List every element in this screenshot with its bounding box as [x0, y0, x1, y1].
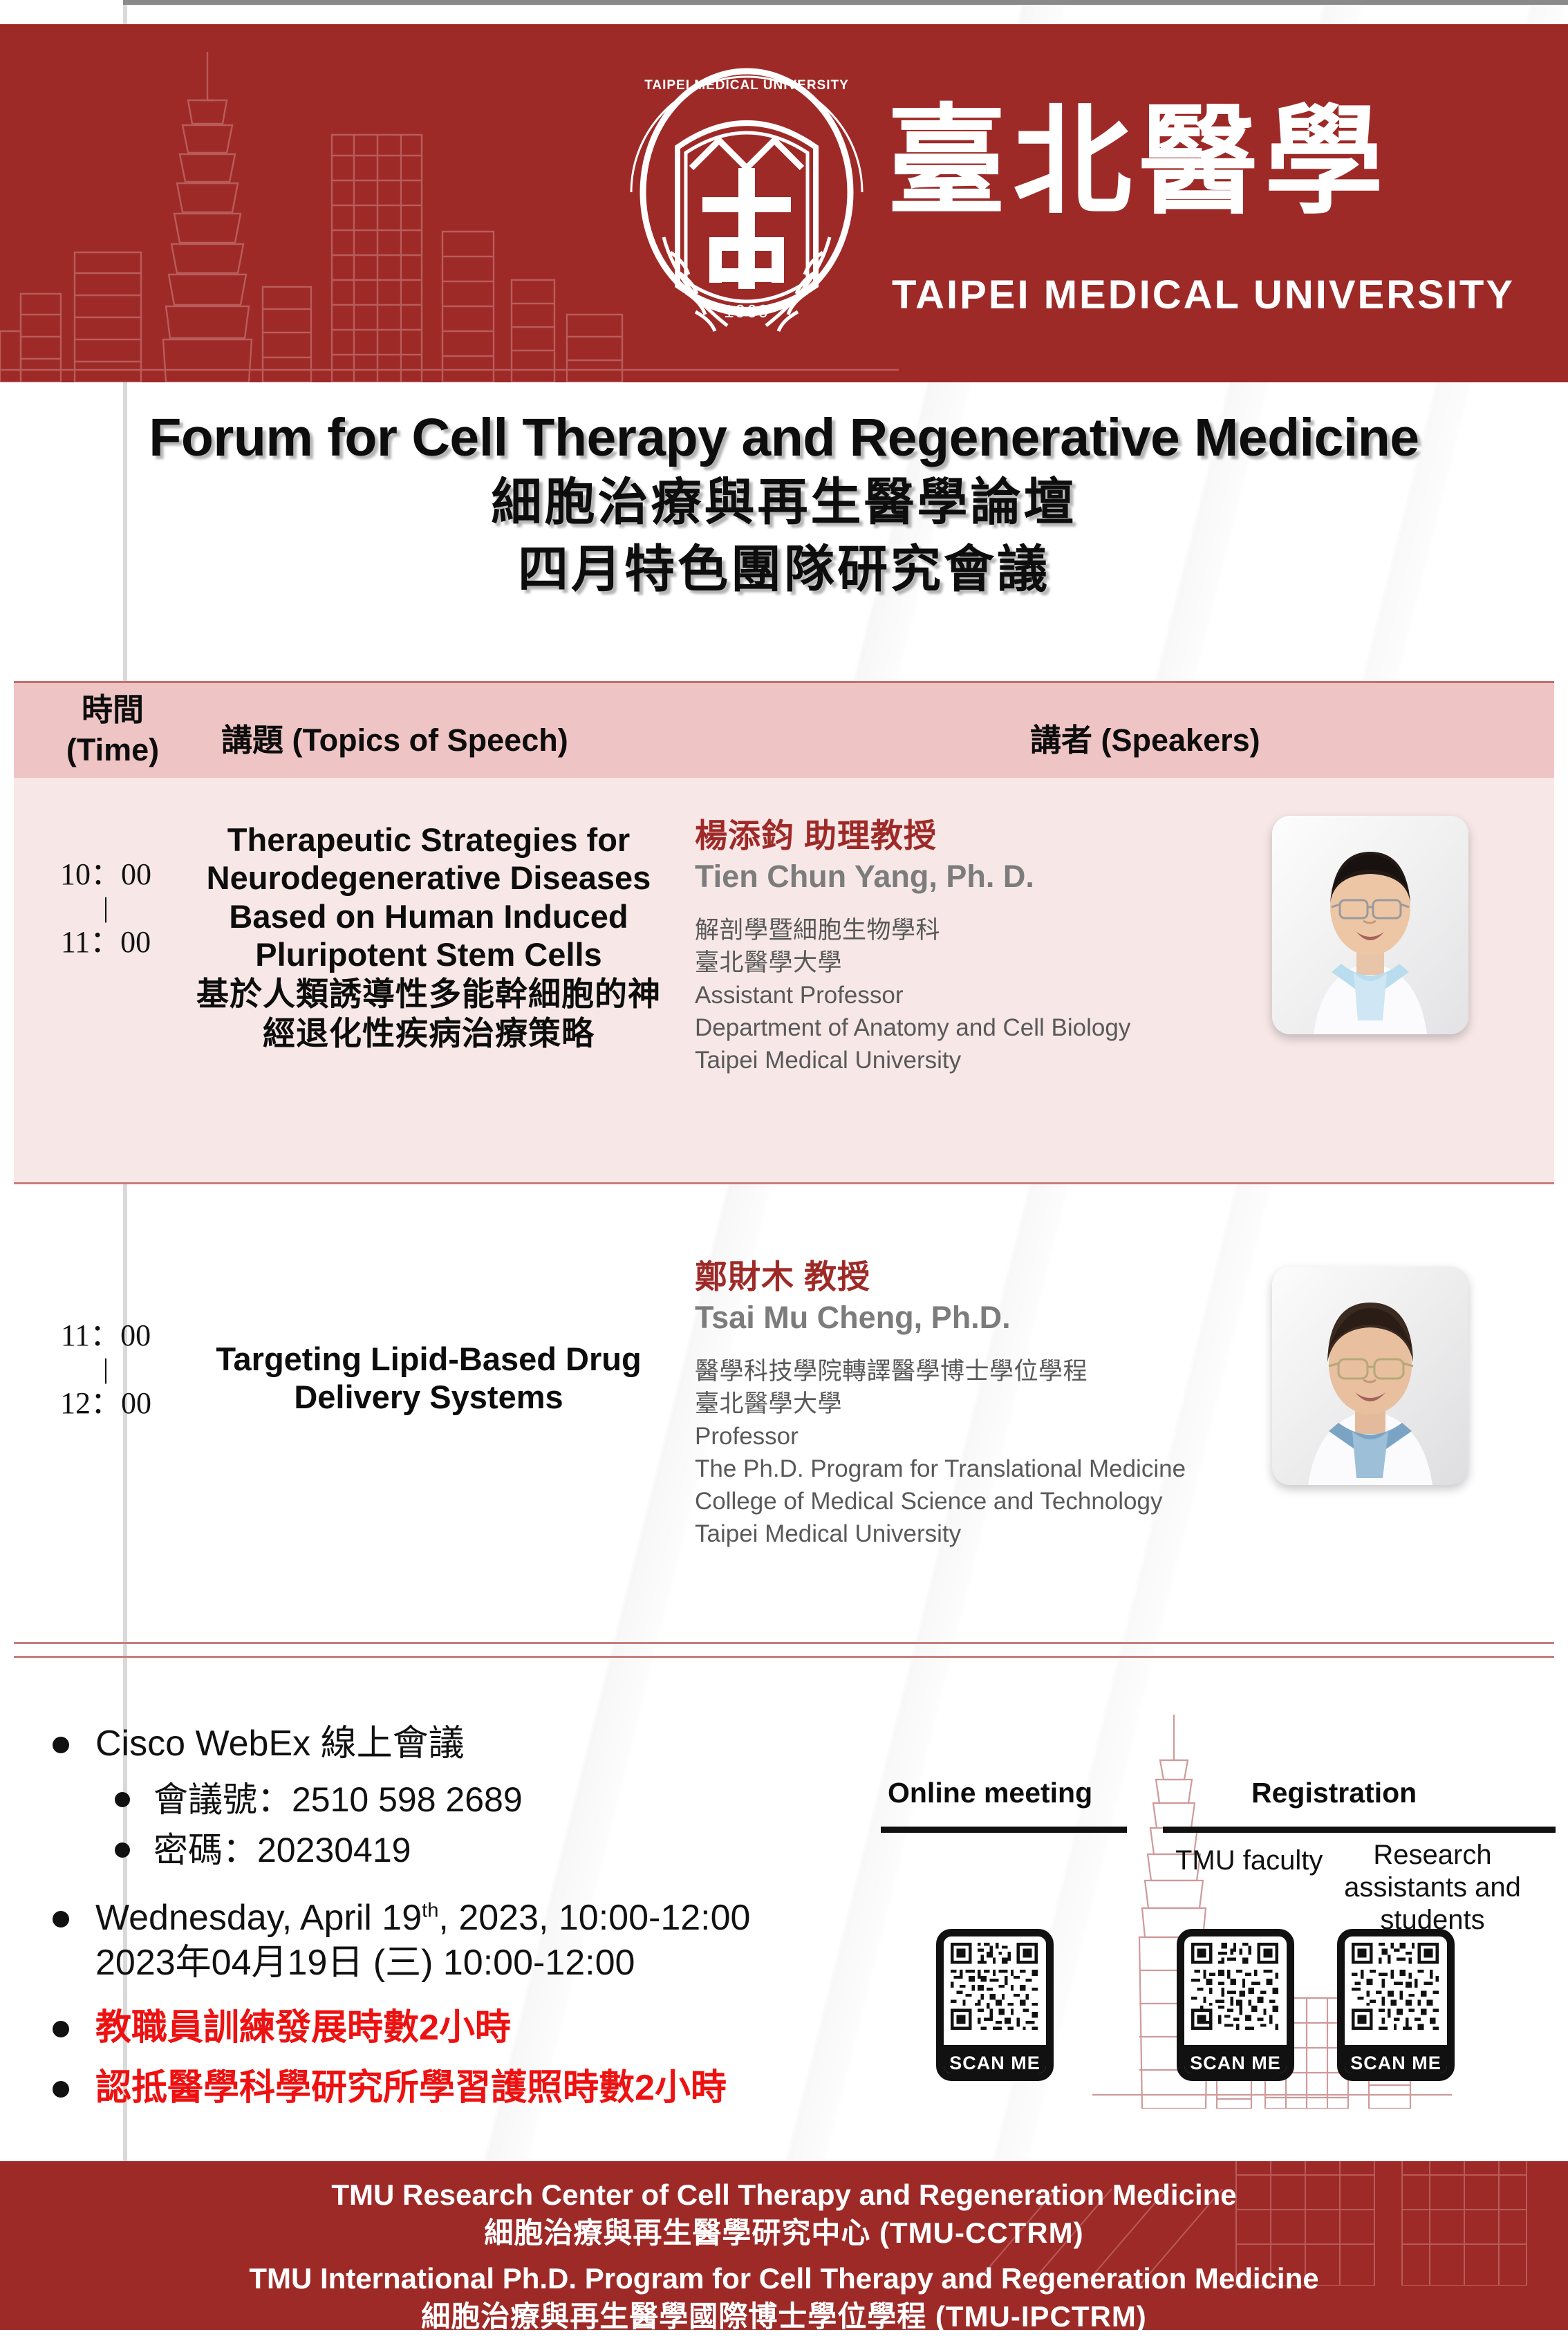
bullet-credit-1: 教職員訓練發展時數2小時 — [40, 2006, 856, 2051]
session-2-time: 11：00 | 12：00 — [26, 1320, 185, 1419]
qr-code-icon — [1191, 1943, 1278, 2030]
session-2-speaker: 鄭財木 教授 Tsai Mu Cheng, Ph.D. 醫學科技學院轉譯醫學博士… — [695, 1257, 1241, 1551]
info-divider — [14, 1656, 1554, 1658]
title-chinese-1: 細胞治療與再生醫學論壇 — [0, 470, 1568, 536]
qr-section: Online meeting Registration TMU faculty … — [864, 1708, 1556, 2109]
column-header-topic: 講題 (Topics of Speech) — [221, 715, 568, 760]
qr-rule-registration — [1163, 1827, 1556, 1833]
session-1-topic-cn: 基於人類誘導性多能幹細胞的神經退化性疾病治療策略 — [187, 974, 671, 1054]
title-block: Forum for Cell Therapy and Regenerative … — [0, 408, 1568, 603]
session-2-aff-cn-2: 臺北醫學大學 — [695, 1388, 1241, 1421]
session-2-topic: Targeting Lipid-Based Drug Delivery Syst… — [187, 1340, 671, 1417]
bullet-password: 密碼：20230419 — [104, 1829, 856, 1872]
date-cn: 2023年04月19日 (三) 10:00-12:00 — [95, 1941, 856, 1986]
schedule-row-1: 10：00 | 11：00 Therapeutic Strategies for… — [14, 778, 1554, 1184]
session-1-aff-en-2: Department of Anatomy and Cell Biology — [695, 1012, 1227, 1045]
scan-me-label: SCAN ME — [936, 2045, 1054, 2081]
session-2-affiliation: 醫學科技學院轉譯醫學博士學位學程 臺北醫學大學 Professor The Ph… — [695, 1356, 1241, 1550]
date-en-pre: Wednesday, April 19 — [95, 1898, 422, 1938]
session-1-aff-cn-2: 臺北醫學大學 — [695, 947, 1227, 980]
bullet-date: Wednesday, April 19th, 2023, 10:00-12:00… — [40, 1896, 856, 1986]
session-2-time-end: 12：00 — [60, 1386, 151, 1420]
date-en-sup: th — [422, 1899, 438, 1921]
qr-rule-online — [881, 1827, 1127, 1833]
date-en-post: , 2023, 10:00-12:00 — [438, 1898, 750, 1938]
session-2-aff-en-2: The Ph.D. Program for Translational Medi… — [695, 1453, 1241, 1486]
session-2-speaker-photo — [1272, 1267, 1468, 1485]
title-english: Forum for Cell Therapy and Regenerative … — [0, 408, 1568, 467]
column-header-time: 時間 (Time) — [40, 690, 185, 769]
footer-banner: TMU Research Center of Cell Therapy and … — [0, 2161, 1568, 2330]
header-banner: 1960 TAIPEI MEDICAL UNIVERSITY 臺北醫學大學 TA… — [0, 24, 1568, 382]
qr-sub-label-tmu-faculty: TMU faculty — [1175, 1845, 1323, 1877]
university-name-cn-calligraphy: 臺北醫學大學 — [881, 80, 1379, 245]
university-name-en: TAIPEI MEDICAL UNIVERSITY — [892, 272, 1515, 318]
session-2-topic-en: Targeting Lipid-Based Drug Delivery Syst… — [187, 1340, 671, 1417]
column-header-speaker: 講者 (Speakers) — [1030, 715, 1260, 760]
crest-ring-label: TAIPEI MEDICAL UNIVERSITY — [644, 78, 849, 93]
session-1-time: 10：00 | 11：00 — [26, 859, 185, 958]
footer-line-4: 細胞治療與再生醫學國際博士學位學程 (TMU-IPCTRM) — [0, 2298, 1568, 2330]
column-header-time-en: (Time) — [40, 730, 185, 770]
session-1-aff-cn-1: 解剖學暨細胞生物學科 — [695, 915, 1227, 947]
bullet-platform: Cisco WebEx 線上會議 — [40, 1721, 856, 1767]
bullet-credit-2: 認抵醫學科學研究所學習護照時數2小時 — [40, 2066, 856, 2111]
title-chinese-2: 四月特色團隊研究會議 — [0, 537, 1568, 603]
session-1-time-end: 11：00 — [61, 925, 151, 959]
session-1-speaker-name-en: Tien Chun Yang, Ph. D. — [695, 857, 1227, 897]
qr-group-label-online: Online meeting — [888, 1777, 1092, 1809]
research-assistants-qr-card[interactable]: SCAN ME — [1337, 1929, 1455, 2081]
tmu-crest-icon: 1960 TAIPEI MEDICAL UNIVERSITY — [622, 64, 871, 341]
session-1-speaker-name-cn: 楊添鈞 助理教授 — [695, 816, 1227, 857]
session-1-aff-en-1: Assistant Professor — [695, 980, 1227, 1012]
session-2-speaker-name-cn: 鄭財木 教授 — [695, 1257, 1241, 1298]
info-bullets: Cisco WebEx 線上會議 會議號：2510 598 2689 密碼：20… — [40, 1721, 856, 2122]
session-1-speaker: 楊添鈞 助理教授 Tien Chun Yang, Ph. D. 解剖學暨細胞生物… — [695, 816, 1227, 1077]
svg-text:1960: 1960 — [724, 301, 769, 321]
column-header-time-cn: 時間 — [40, 690, 185, 730]
session-2-time-separator: | — [26, 1355, 185, 1383]
scan-me-label: SCAN ME — [1337, 2045, 1455, 2081]
footer-line-2: 細胞治療與再生醫學研究中心 (TMU-CCTRM) — [0, 2214, 1568, 2252]
session-2-aff-en-1: Professor — [695, 1421, 1241, 1453]
session-2-time-start: 11：00 — [61, 1318, 151, 1352]
poster-root: 1960 TAIPEI MEDICAL UNIVERSITY 臺北醫學大學 TA… — [0, 0, 1568, 2352]
svg-text:臺北醫學大學: 臺北醫學大學 — [887, 92, 1379, 231]
session-1-topic: Therapeutic Strategies for Neurodegenera… — [187, 821, 671, 1053]
qr-code-icon — [951, 1943, 1038, 2030]
bullet-meeting-number: 會議號：2510 598 2689 — [104, 1778, 856, 1822]
slide-edge-top — [123, 0, 1568, 5]
session-1-speaker-photo — [1272, 816, 1468, 1034]
footer-line-3: TMU International Ph.D. Program for Cell… — [0, 2260, 1568, 2298]
qr-group-label-registration: Registration — [1251, 1777, 1417, 1809]
session-2-aff-en-4: Taipei Medical University — [695, 1518, 1241, 1551]
qr-code-icon — [1352, 1943, 1439, 2030]
session-1-topic-en: Therapeutic Strategies for Neurodegenera… — [187, 821, 671, 974]
session-2-aff-cn-1: 醫學科技學院轉譯醫學博士學位學程 — [695, 1356, 1241, 1388]
session-1-time-separator: | — [26, 894, 185, 922]
footer-line-1: TMU Research Center of Cell Therapy and … — [0, 2176, 1568, 2214]
session-1-aff-en-3: Taipei Medical University — [695, 1045, 1227, 1077]
page-bottom-margin — [0, 2330, 1568, 2352]
schedule-row-2: 11：00 | 12：00 Targeting Lipid-Based Drug… — [14, 1238, 1554, 1644]
session-1-affiliation: 解剖學暨細胞生物學科 臺北醫學大學 Assistant Professor De… — [695, 915, 1227, 1076]
session-1-time-start: 10：00 — [60, 857, 151, 891]
session-2-speaker-name-en: Tsai Mu Cheng, Ph.D. — [695, 1298, 1241, 1338]
session-2-aff-en-3: College of Medical Science and Technolog… — [695, 1486, 1241, 1518]
tmu-faculty-qr-card[interactable]: SCAN ME — [1177, 1929, 1294, 2081]
qr-sub-label-research: Research assistants and students — [1308, 1839, 1557, 1937]
footer-text: TMU Research Center of Cell Therapy and … — [0, 2161, 1568, 2330]
scan-me-label: SCAN ME — [1177, 2045, 1294, 2081]
online-meeting-qr-card[interactable]: SCAN ME — [936, 1929, 1054, 2081]
schedule-table-header: 時間 (Time) 講題 (Topics of Speech) 講者 (Spea… — [14, 681, 1554, 780]
